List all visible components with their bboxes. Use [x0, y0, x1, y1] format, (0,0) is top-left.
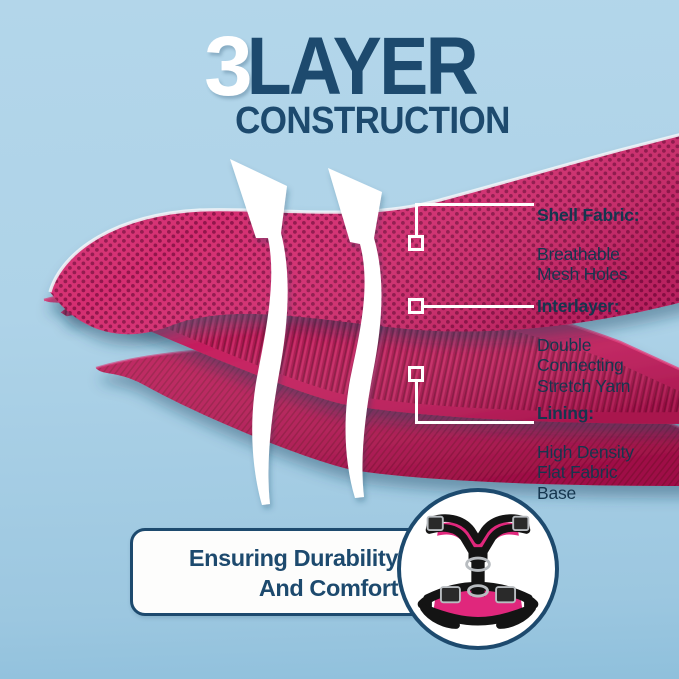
- callout-lining-body: High Density Flat Fabric Base: [537, 442, 634, 503]
- callout-leader-interlayer-horizontal: [424, 305, 534, 308]
- dog-harness-icon: [401, 492, 555, 646]
- callout-leader-lining-horizontal: [415, 421, 534, 424]
- callout-interlayer-head: Interlayer:: [537, 296, 630, 316]
- callout-lining-head: Lining:: [537, 403, 634, 423]
- callout-leader-shell-horizontal: [415, 203, 534, 206]
- callout-leader-lining-vertical: [415, 382, 418, 424]
- tagline-text: Ensuring Durability And Comfort: [133, 543, 398, 603]
- infographic-canvas: 3 LAYER CONSTRUCTION: [0, 0, 679, 679]
- callout-marker-lining[interactable]: [408, 366, 424, 382]
- callout-marker-shell-fabric[interactable]: [408, 235, 424, 251]
- callout-shell-fabric-head: Shell Fabric:: [537, 205, 639, 225]
- callout-leader-shell-vertical: [415, 203, 418, 237]
- callout-marker-interlayer[interactable]: [408, 298, 424, 314]
- callout-lining: Lining: High Density Flat Fabric Base: [537, 384, 634, 522]
- product-photo-circle: [397, 488, 559, 650]
